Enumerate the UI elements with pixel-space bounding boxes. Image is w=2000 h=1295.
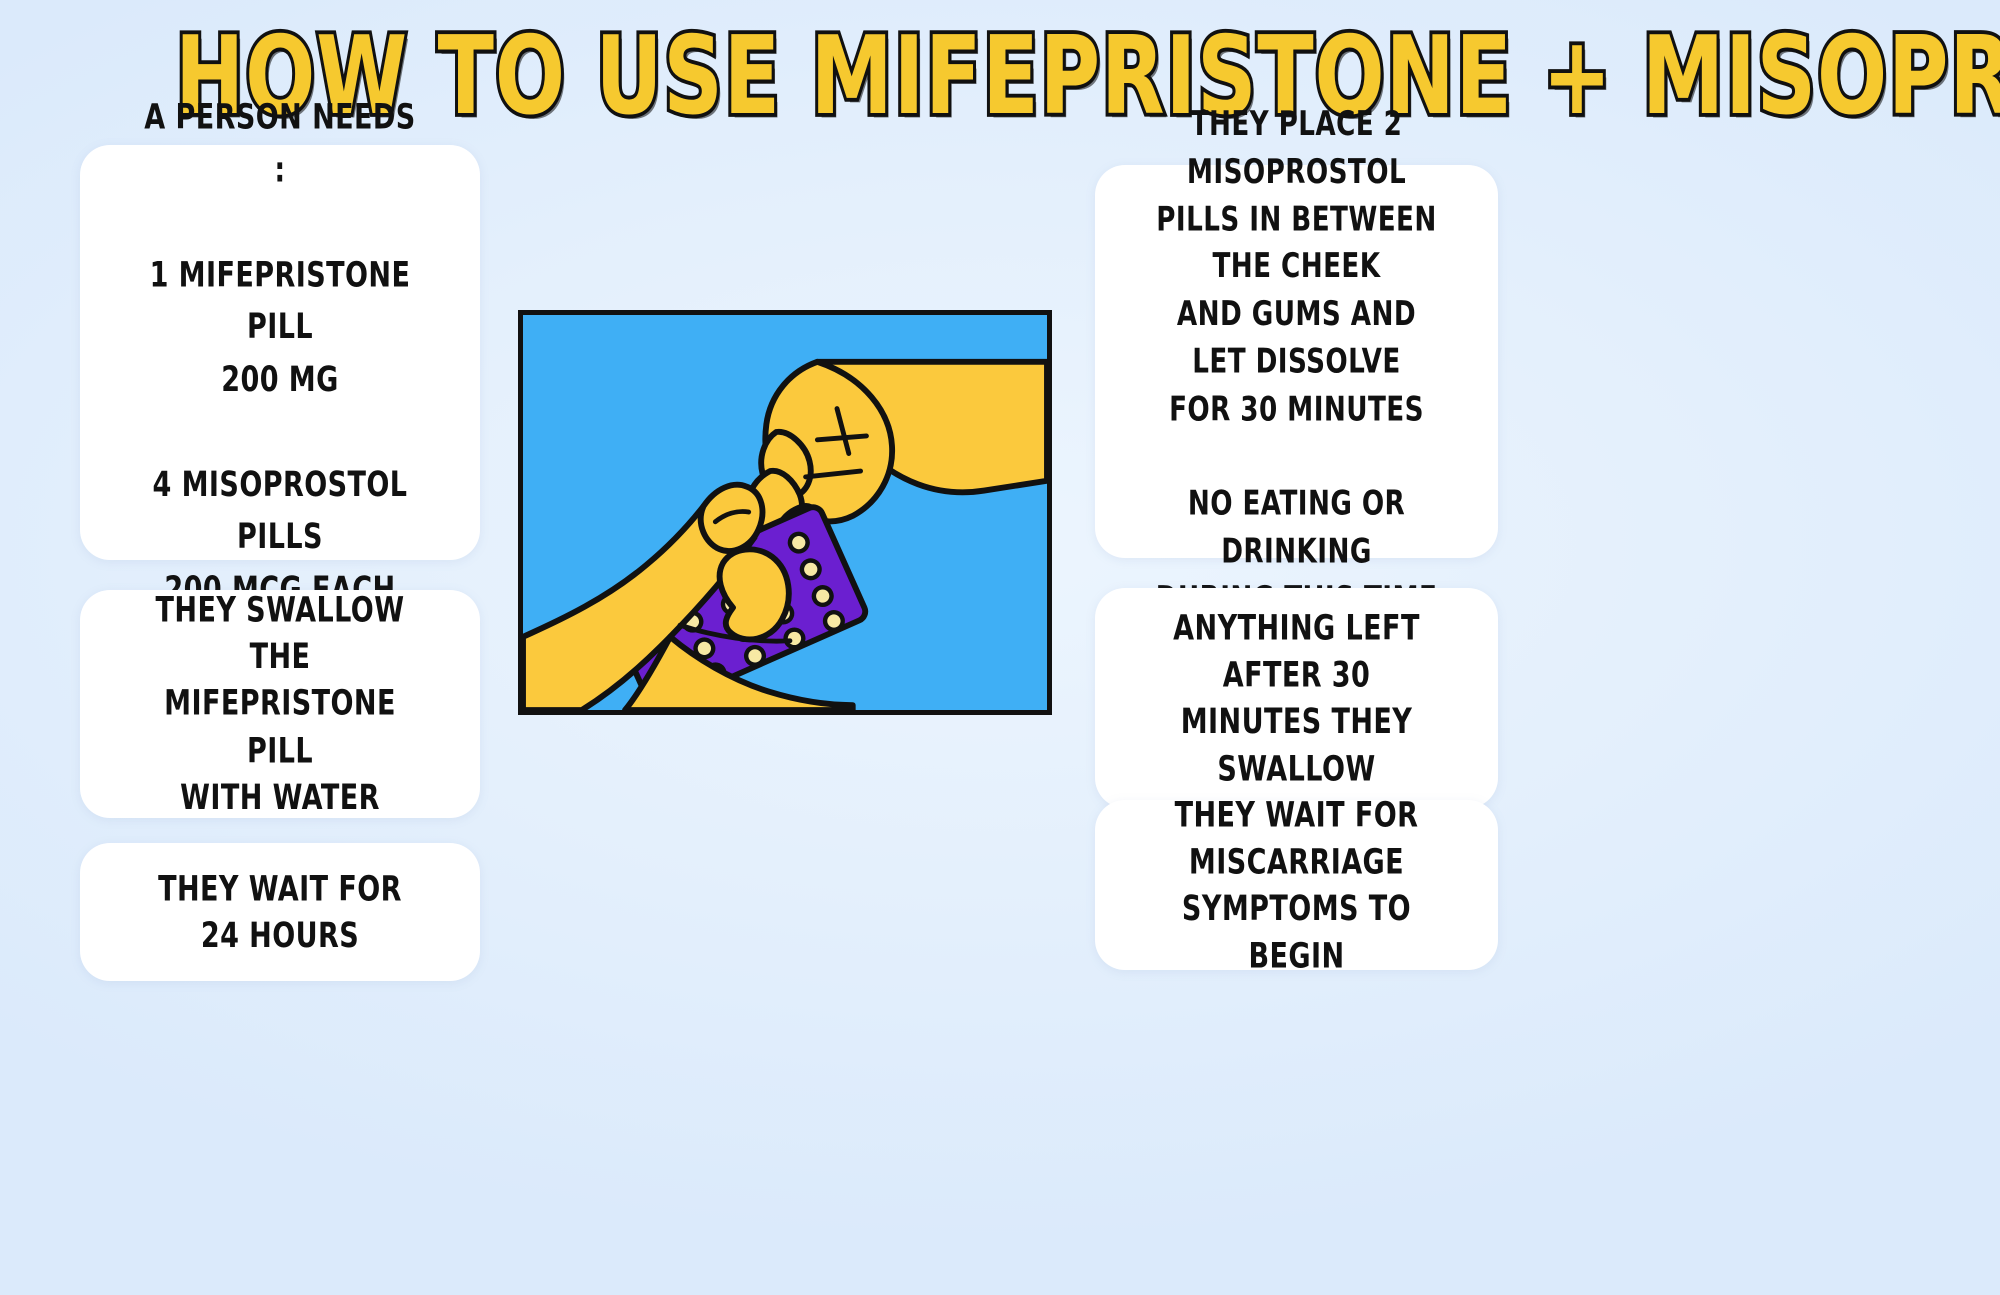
card-place-misoprostol-text: THEY PLACE 2 MISOPROSTOL PILLS IN BETWEE… bbox=[1153, 100, 1441, 622]
card-person-needs: A PERSON NEEDS : 1 MIFEPRISTONE PILL 200… bbox=[80, 145, 480, 560]
lower-index-finger bbox=[701, 485, 763, 551]
card-person-needs-text: A PERSON NEEDS : 1 MIFEPRISTONE PILL 200… bbox=[137, 90, 422, 615]
card-wait-24-hours: THEY WAIT FOR 24 HOURS bbox=[80, 843, 480, 981]
card-wait-24-hours-text: THEY WAIT FOR 24 HOURS bbox=[137, 865, 422, 959]
illustration-svg bbox=[523, 315, 1047, 710]
infographic-poster: HOW TO USE MIFEPRISTONE + MISOPROSTOL A … bbox=[0, 0, 2000, 1295]
card-swallow-leftover-text: ANYTHING LEFT AFTER 30 MINUTES THEY SWAL… bbox=[1153, 604, 1441, 791]
card-place-misoprostol: THEY PLACE 2 MISOPROSTOL PILLS IN BETWEE… bbox=[1095, 165, 1498, 558]
card-swallow-leftover: ANYTHING LEFT AFTER 30 MINUTES THEY SWAL… bbox=[1095, 588, 1498, 808]
lower-thumb bbox=[720, 549, 789, 639]
page-title: HOW TO USE MIFEPRISTONE + MISOPROSTOL bbox=[175, 18, 2000, 134]
card-wait-symptoms: THEY WAIT FOR MISCARRIAGE SYMPTOMS TO BE… bbox=[1095, 800, 1498, 970]
illustration-hands-pills bbox=[518, 310, 1052, 715]
card-swallow-mifepristone-text: THEY SWALLOW THE MIFEPRISTONE PILL WITH … bbox=[137, 587, 422, 821]
card-wait-symptoms-text: THEY WAIT FOR MISCARRIAGE SYMPTOMS TO BE… bbox=[1153, 791, 1441, 978]
card-swallow-mifepristone: THEY SWALLOW THE MIFEPRISTONE PILL WITH … bbox=[80, 590, 480, 818]
